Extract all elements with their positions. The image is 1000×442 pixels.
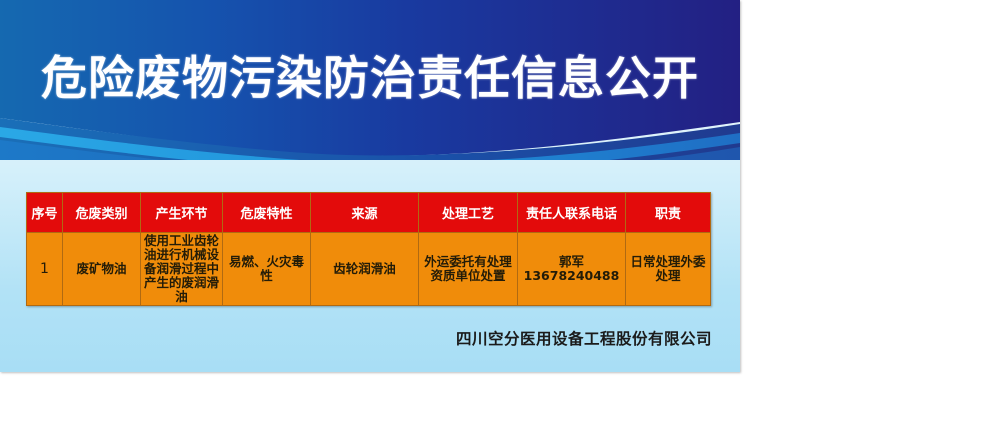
cell-source: 齿轮润滑油 <box>311 233 419 306</box>
information-board: 危险废物污染防治责任信息公开 序号 危废类别 产生环节 危废特性 来源 处理工艺… <box>0 0 740 372</box>
cell-contact: 郭军 13678240488 <box>518 233 626 306</box>
column-header-duty: 职责 <box>626 193 711 233</box>
column-header-category: 危废类别 <box>63 193 141 233</box>
hazardous-waste-table: 序号 危废类别 产生环节 危废特性 来源 处理工艺 责任人联系电话 职责 1 废… <box>26 192 711 306</box>
company-name: 四川空分医用设备工程股份有限公司 <box>0 327 712 349</box>
cell-treatment: 外运委托有处理资质单位处置 <box>419 233 518 306</box>
column-header-contact: 责任人联系电话 <box>518 193 626 233</box>
cell-stage: 使用工业齿轮油进行机械设备润滑过程中产生的废润滑油 <box>141 233 223 306</box>
column-header-source: 来源 <box>311 193 419 233</box>
column-header-index: 序号 <box>27 193 63 233</box>
cell-index: 1 <box>27 233 63 306</box>
cell-duty: 日常处理外委处理 <box>626 233 711 306</box>
contact-phone: 13678240488 <box>520 269 623 283</box>
column-header-stage: 产生环节 <box>141 193 223 233</box>
page-title: 危险废物污染防治责任信息公开 <box>0 43 740 113</box>
banner-header: 危险废物污染防治责任信息公开 <box>0 0 740 160</box>
column-header-treatment: 处理工艺 <box>419 193 518 233</box>
cell-property: 易燃、火灾毒性 <box>223 233 311 306</box>
cell-category: 废矿物油 <box>63 233 141 306</box>
table-row: 1 废矿物油 使用工业齿轮油进行机械设备润滑过程中产生的废润滑油 易燃、火灾毒性… <box>27 233 711 306</box>
column-header-property: 危废特性 <box>223 193 311 233</box>
table-header-row: 序号 危废类别 产生环节 危废特性 来源 处理工艺 责任人联系电话 职责 <box>27 193 711 233</box>
contact-name: 郭军 <box>520 255 623 269</box>
